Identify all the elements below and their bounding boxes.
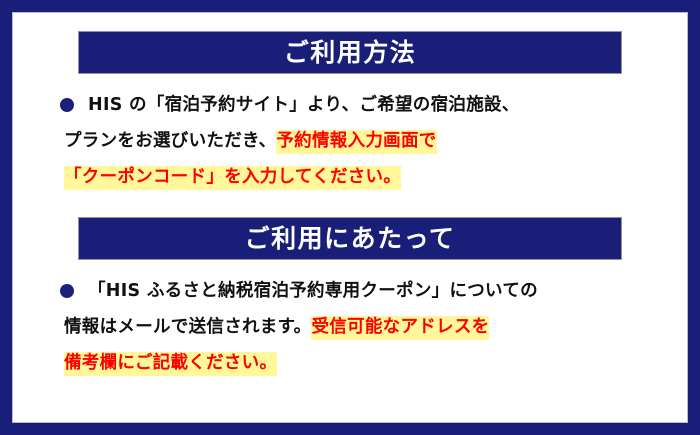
body-line: 「クーポンコード」を入力してください。 <box>64 159 627 195</box>
bullet-block-how-to-use: HIS の「宿泊予約サイト」より、ご希望の宿泊施設、 プランをお選びいただき、予… <box>13 87 687 195</box>
section-before-use: ご利用にあたって 「HIS ふるさと納税宿泊予約専用クーポン」についての 情報は… <box>13 217 687 381</box>
bullet-dot-icon <box>60 98 74 112</box>
bullet-dot-icon <box>60 284 74 298</box>
coupon-info-card: ご利用方法 HIS の「宿泊予約サイト」より、ご希望の宿泊施設、 プランをお選び… <box>0 0 700 435</box>
card-inner-surface: ご利用方法 HIS の「宿泊予約サイト」より、ご希望の宿泊施設、 プランをお選び… <box>12 12 688 423</box>
section-how-to-use: ご利用方法 HIS の「宿泊予約サイト」より、ご希望の宿泊施設、 プランをお選び… <box>13 31 687 195</box>
highlighted-text-segment: 予約情報入力画面で <box>276 130 436 154</box>
body-line: 備考欄にご記載ください。 <box>64 345 627 381</box>
body-line: プランをお選びいただき、予約情報入力画面で <box>64 123 627 159</box>
section-heading-before-use: ご利用にあたって <box>245 226 456 251</box>
section-heading-how-to-use: ご利用方法 <box>284 40 417 65</box>
highlighted-text-segment: 「クーポンコード」を入力してください。 <box>64 166 401 190</box>
highlighted-text-segment: 受信可能なアドレスを <box>311 316 489 340</box>
bullet-block-before-use: 「HIS ふるさと納税宿泊予約専用クーポン」についての 情報はメールで送信されま… <box>13 273 687 381</box>
highlighted-text-segment: 備考欄にご記載ください。 <box>64 352 277 376</box>
text-segment: 「HIS ふるさと納税宿泊予約専用クーポン」についての <box>88 281 538 301</box>
body-line: 「HIS ふるさと納税宿泊予約専用クーポン」についての <box>88 273 627 309</box>
text-segment: プランをお選びいただき、 <box>64 131 276 151</box>
section-heading-bar-how-to-use: ご利用方法 <box>78 31 622 74</box>
section-heading-bar-before-use: ご利用にあたって <box>78 217 622 260</box>
text-segment: HIS の「宿泊予約サイト」より、ご希望の宿泊施設、 <box>88 95 520 115</box>
text-segment: 情報はメールで送信されます。 <box>64 317 311 337</box>
body-line: 情報はメールで送信されます。受信可能なアドレスを <box>64 309 627 345</box>
body-line: HIS の「宿泊予約サイト」より、ご希望の宿泊施設、 <box>88 87 627 123</box>
